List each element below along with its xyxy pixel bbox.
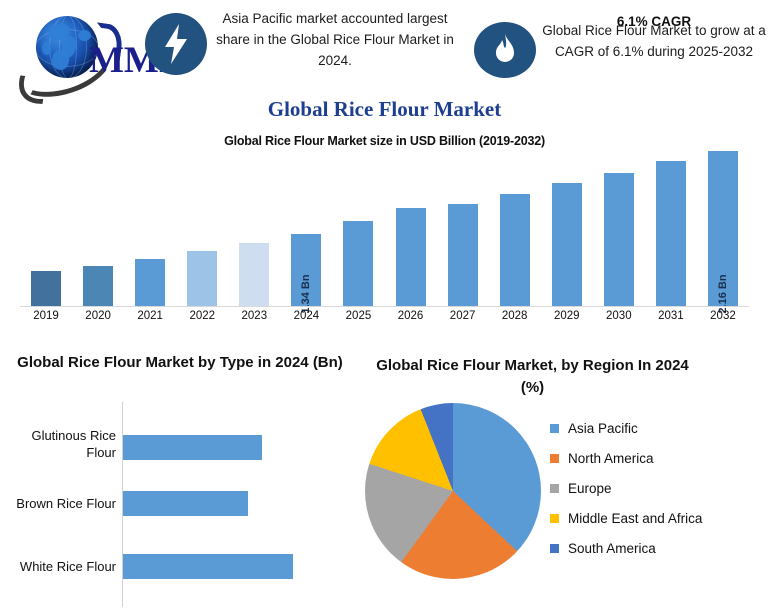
x-axis-label-2024: 2024 [282, 310, 330, 322]
type-bar [123, 491, 248, 516]
flame-icon [474, 22, 536, 78]
bar-2025 [343, 221, 373, 306]
x-axis-label-2019: 2019 [22, 310, 70, 322]
legend-label: Middle East and Africa [568, 511, 702, 526]
bar-value-label: 1.34 Bn [300, 274, 312, 313]
type-row: Glutinous Rice Flour [0, 427, 355, 467]
x-axis-label-2031: 2031 [647, 310, 695, 322]
x-axis-label-2022: 2022 [178, 310, 226, 322]
x-axis-label-2020: 2020 [74, 310, 122, 322]
type-label: Glutinous Rice Flour [0, 427, 116, 461]
legend-swatch-icon [550, 454, 559, 463]
bar-2031 [656, 161, 686, 306]
x-axis-label-2030: 2030 [595, 310, 643, 322]
legend-item-north-america[interactable]: North America [550, 443, 765, 473]
x-axis-label-2029: 2029 [543, 310, 591, 322]
x-axis-label-2021: 2021 [126, 310, 174, 322]
bar-2028 [500, 194, 530, 306]
type-row: Brown Rice Flour [0, 489, 355, 529]
bar-chart-title: Global Rice Flour Market size in USD Bil… [0, 134, 769, 148]
pie-chart-legend: Asia PacificNorth AmericaEuropeMiddle Ea… [550, 413, 765, 563]
type-label: White Rice Flour [0, 558, 116, 575]
highlight-1-text: Asia Pacific market accounted largest sh… [215, 8, 455, 71]
market-by-region-chart: Global Rice Flour Market, by Region In 2… [355, 355, 769, 613]
legend-item-middle-east-and-africa[interactable]: Middle East and Africa [550, 503, 765, 533]
legend-swatch-icon [550, 484, 559, 493]
bar-2027 [448, 204, 478, 306]
bar-2020 [83, 266, 113, 306]
bar-2024: 1.34 Bn [291, 234, 321, 306]
header: MMR Asia Pacific market accounted larges… [0, 0, 769, 95]
page-title: Global Rice Flour Market [0, 97, 769, 122]
market-size-bar-chart: Global Rice Flour Market size in USD Bil… [0, 134, 769, 338]
legend-label: Asia Pacific [568, 421, 638, 436]
mmr-logo: MMR [6, 8, 138, 86]
infographic-root: MMR Asia Pacific market accounted larges… [0, 0, 769, 613]
pie-chart-graphic [365, 403, 541, 579]
legend-item-europe[interactable]: Europe [550, 473, 765, 503]
type-bar [123, 554, 293, 579]
bar-2021 [135, 259, 165, 306]
legend-label: Europe [568, 481, 612, 496]
bar-2023 [239, 243, 269, 306]
highlight-2-text: Global Rice Flour Market to grow at a CA… [540, 20, 768, 62]
bar-2026 [396, 208, 426, 306]
x-axis-label-2025: 2025 [334, 310, 382, 322]
bar-2030 [604, 173, 634, 306]
type-row: White Rice Flour [0, 552, 355, 592]
legend-swatch-icon [550, 544, 559, 553]
market-by-type-chart: Global Rice Flour Market by Type in 2024… [0, 352, 355, 613]
legend-swatch-icon [550, 424, 559, 433]
bar-value-label: 2.16 Bn [717, 274, 729, 313]
x-axis-label-2023: 2023 [230, 310, 278, 322]
x-axis-label-2027: 2027 [439, 310, 487, 322]
type-label: Brown Rice Flour [0, 495, 116, 512]
bar-2029 [552, 183, 582, 306]
legend-swatch-icon [550, 514, 559, 523]
bar-chart-axis-line [20, 306, 749, 307]
type-bar [123, 435, 262, 460]
legend-item-south-america[interactable]: South America [550, 533, 765, 563]
legend-label: South America [568, 541, 656, 556]
pie-chart-title: Global Rice Flour Market, by Region In 2… [365, 355, 700, 399]
type-chart-title: Global Rice Flour Market by Type in 2024… [10, 352, 350, 374]
legend-label: North America [568, 451, 654, 466]
lightning-bolt-icon [145, 13, 207, 75]
bar-chart-plot: 1.34 Bn2.16 Bn [20, 156, 749, 306]
x-axis-label-2028: 2028 [491, 310, 539, 322]
bar-2032: 2.16 Bn [708, 151, 738, 306]
legend-item-asia-pacific[interactable]: Asia Pacific [550, 413, 765, 443]
x-axis-label-2032: 2032 [699, 310, 747, 322]
bar-2022 [187, 251, 217, 306]
x-axis-label-2026: 2026 [387, 310, 435, 322]
bar-2019 [31, 271, 61, 306]
